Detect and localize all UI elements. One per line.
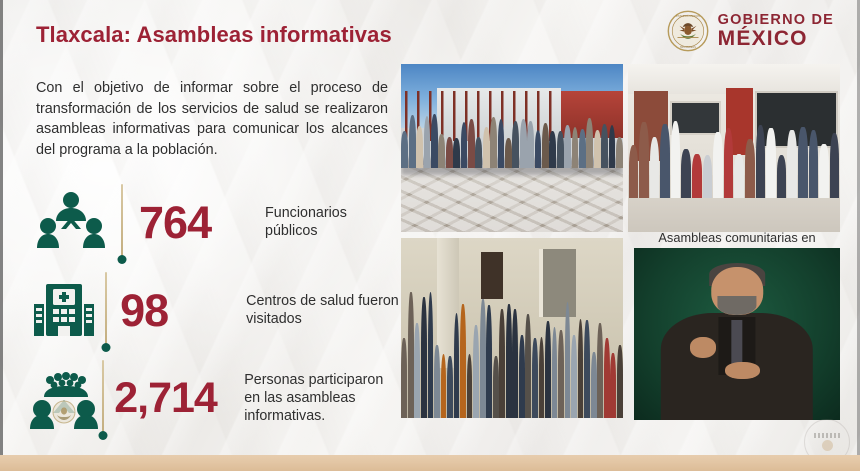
community-crowd-icon [30, 367, 98, 429]
presentation-slide: Tlaxcala: Asambleas informativas ESTADOS… [0, 0, 860, 471]
svg-text:MEXICANOS: MEXICANOS [680, 45, 696, 49]
photo-outdoor-group [401, 64, 623, 232]
stat-value-centros: 98 [114, 288, 242, 333]
stat-label-centros: Centros de salud fueron visitados [242, 292, 402, 328]
stat-label-funcionarios: Funcionarios públicos [261, 204, 402, 240]
stat-divider [98, 272, 114, 348]
stat-row-centros: 98 Centros de salud fueron visitados [30, 266, 402, 354]
photo-assembly-audience [401, 238, 623, 418]
photo-sign-language-interpreter [634, 248, 840, 420]
stat-label-personas: Personas participaron en las asambleas i… [240, 371, 402, 425]
gov-line-1: GOBIERNO DE [718, 13, 834, 28]
stat-value-funcionarios: 764 [133, 200, 261, 245]
statistics-list: 764 Funcionarios públicos [30, 178, 402, 442]
gobierno-de-mexico-text: GOBIERNO DE MÉXICO [718, 13, 834, 50]
page-title-rest: Asambleas informativas [131, 22, 392, 47]
mexican-eagle-seal-icon: ESTADOS UNIDOS MEXICANOS [667, 10, 709, 52]
stat-divider [111, 184, 133, 260]
intro-paragraph: Con el objetivo de informar sobre el pro… [36, 78, 388, 161]
page-title-state: Tlaxcala: [36, 22, 131, 47]
stat-divider [98, 360, 108, 436]
stat-row-funcionarios: 764 Funcionarios públicos [30, 178, 402, 266]
gobierno-de-mexico-logo: ESTADOS UNIDOS MEXICANOS GOBIERNO DE MÉX… [667, 10, 834, 52]
photo-clinic-interior [628, 64, 840, 232]
gov-line-2: MÉXICO [718, 28, 834, 49]
stat-row-personas: 2,714 Personas participaron en las asamb… [30, 354, 402, 442]
page-title: Tlaxcala: Asambleas informativas [36, 22, 392, 48]
hospital-building-icon [30, 280, 98, 340]
svg-text:ESTADOS UNIDOS: ESTADOS UNIDOS [676, 14, 700, 18]
photo-caption: Asambleas comunitarias en [628, 230, 846, 245]
group-of-people-icon [30, 191, 111, 253]
slide-left-border [0, 0, 3, 471]
bottom-accent-bar [0, 455, 860, 471]
stat-value-personas: 2,714 [108, 377, 240, 420]
